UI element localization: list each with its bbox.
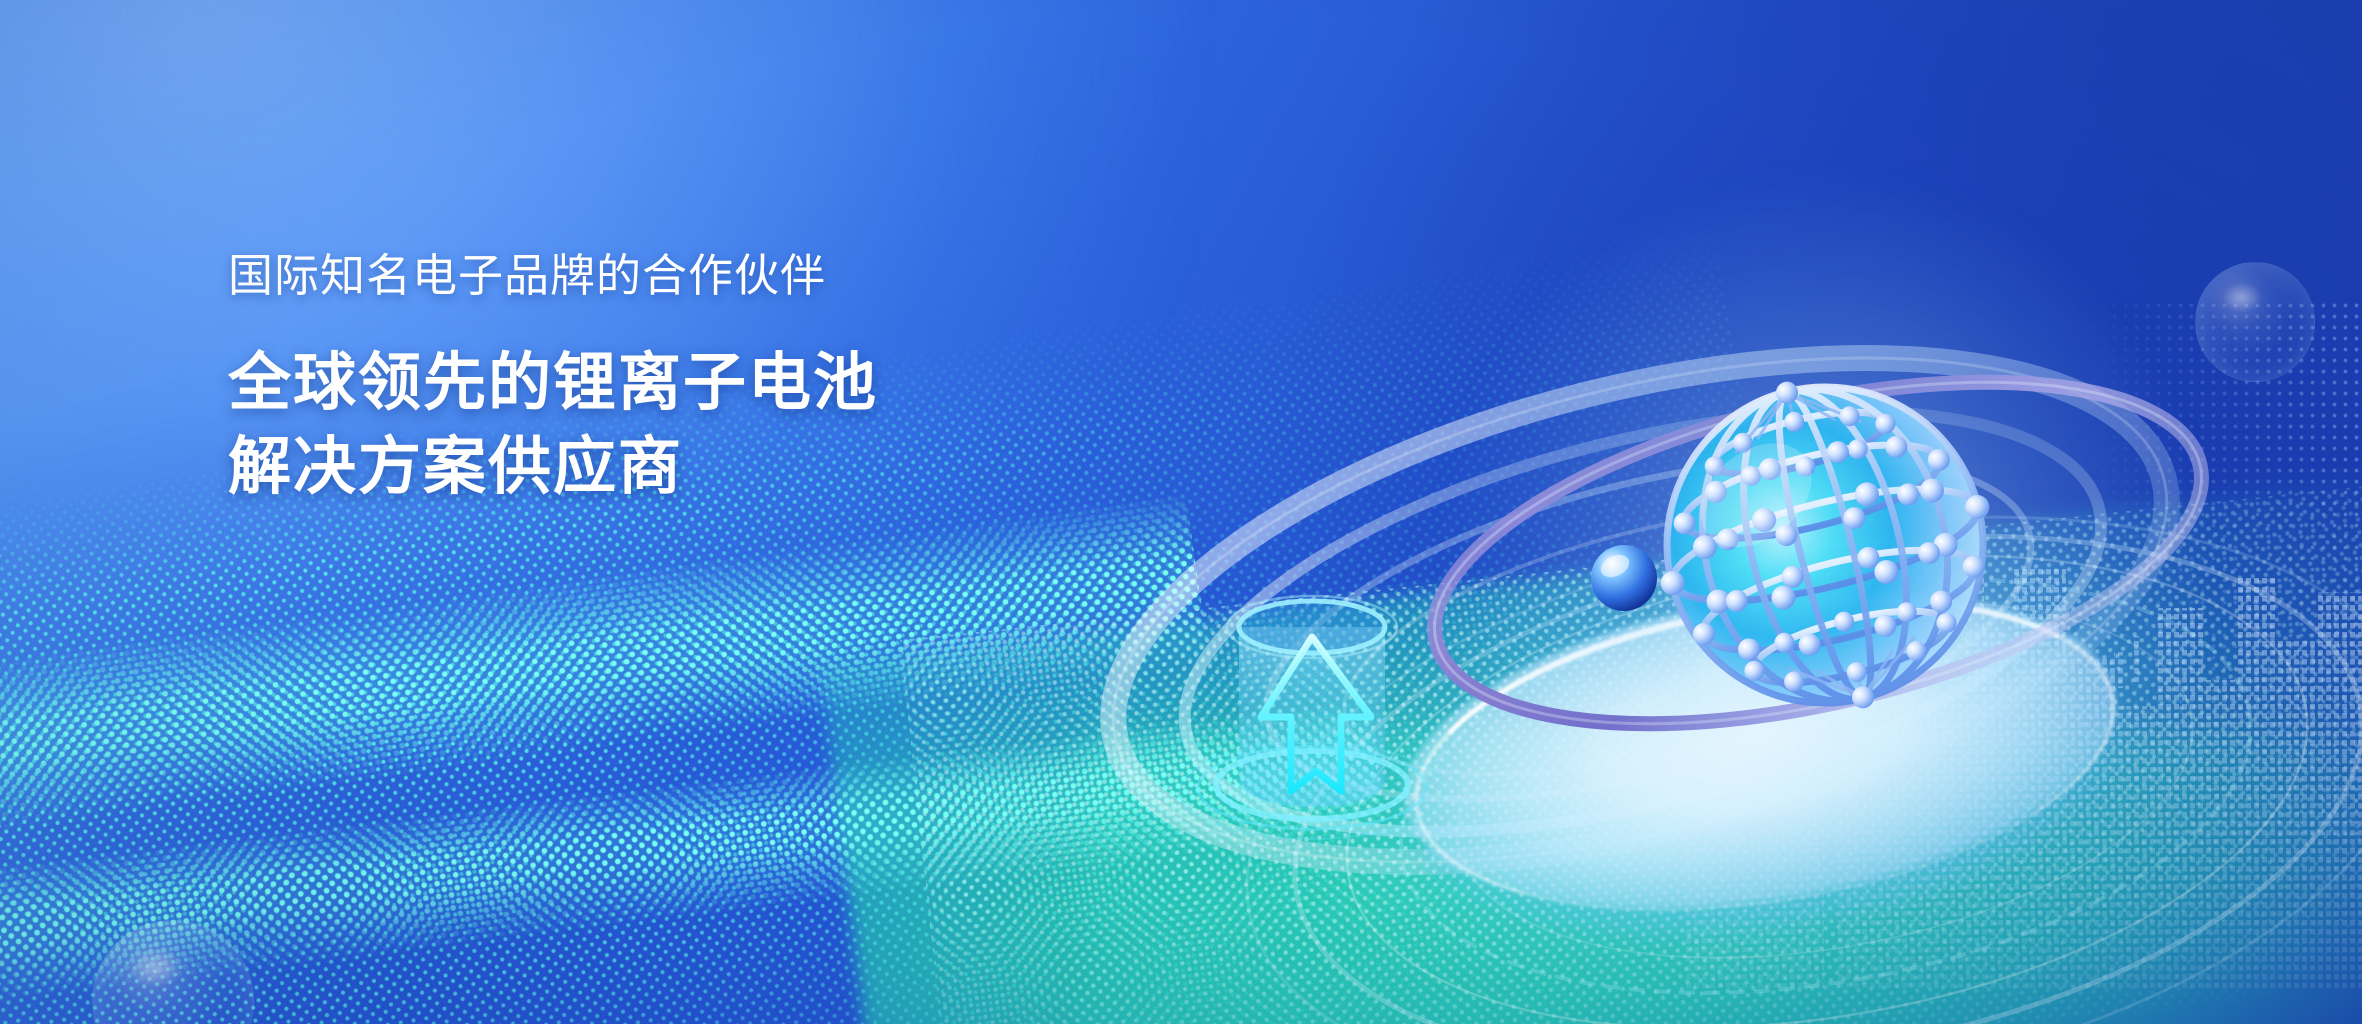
banner-headline-line-1: 全球领先的锂离子电池: [228, 342, 878, 426]
banner-subtitle: 国际知名电子品牌的合作伙伴: [228, 248, 878, 304]
banner-headline: 全球领先的锂离子电池 解决方案供应商: [228, 342, 878, 510]
wireframe-globe-icon: [1610, 330, 2040, 760]
hero-banner: 国际知名电子品牌的合作伙伴 全球领先的锂离子电池 解决方案供应商: [0, 0, 2362, 1024]
banner-headline-line-2: 解决方案供应商: [228, 426, 878, 510]
upward-arrow-cylinder: [1195, 585, 1425, 830]
hero-copy: 国际知名电子品牌的合作伙伴 全球领先的锂离子电池 解决方案供应商: [228, 248, 878, 510]
bubble-icon: [2195, 262, 2315, 382]
